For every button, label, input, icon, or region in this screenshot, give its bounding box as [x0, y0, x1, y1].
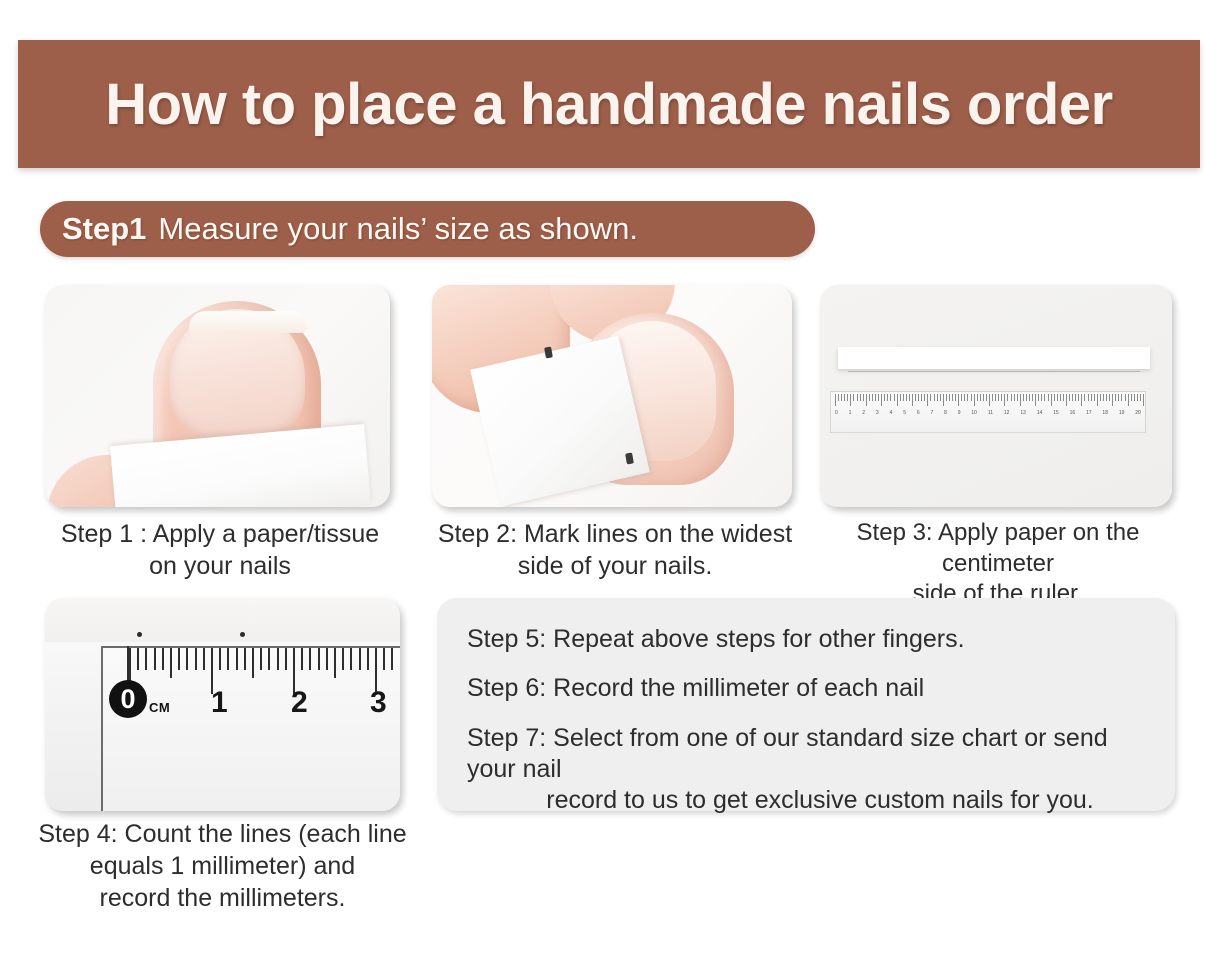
ruler-tick	[1140, 394, 1141, 401]
ruler-tick	[894, 394, 895, 401]
ruler-tick	[934, 394, 935, 401]
ruler-label-3: 3	[370, 686, 387, 720]
ruler-tick	[1048, 394, 1049, 401]
ruler-tick	[1134, 394, 1135, 401]
step1-description: Measure your nails’ size as shown.	[158, 211, 638, 247]
ruler-tick	[850, 394, 851, 406]
ruler-tick	[860, 394, 861, 401]
ruler-mm-tick	[195, 648, 197, 670]
ruler-number: 0	[835, 410, 838, 426]
caption-step-2: Step 2: Mark lines on the widest side of…	[425, 518, 805, 582]
ruler-mm-tick	[367, 648, 369, 670]
ruler-mm-tick	[285, 648, 287, 670]
paper-strip	[838, 347, 1150, 369]
ruler-number: 1	[849, 410, 852, 426]
step1-label: Step1	[62, 211, 146, 247]
step-5-line: Step 5: Repeat above steps for other fin…	[467, 624, 1145, 655]
ruler-tick	[924, 394, 925, 401]
ruler-tick	[977, 394, 978, 401]
cm-unit-label: CM	[149, 700, 170, 715]
ruler-tick	[909, 394, 910, 401]
ruler-tick	[952, 394, 953, 401]
ruler-number: 15	[1053, 410, 1059, 426]
ruler-tick	[1088, 394, 1089, 401]
ruler-mm-tick	[162, 648, 164, 670]
ruler-tick	[1029, 394, 1030, 401]
ruler-tick	[1078, 394, 1079, 401]
ruler-tick	[1106, 394, 1107, 401]
ruler-tick-marks	[831, 392, 1145, 408]
step-7-line-continuation: record to us to get exclusive custom nai…	[467, 785, 1145, 816]
ruler-tick	[1115, 394, 1116, 401]
ruler-number: 9	[958, 410, 961, 426]
ruler-number: 10	[971, 410, 977, 426]
step4-image-card: 0 CM 1 2 3	[45, 598, 400, 811]
ruler-tick	[1112, 394, 1113, 406]
ruler-tick	[971, 394, 972, 401]
ruler-tick	[1011, 394, 1012, 401]
ruler-tick	[1032, 394, 1033, 401]
ruler-label-2: 2	[291, 686, 308, 720]
ruler-number: 17	[1086, 410, 1092, 426]
ruler-mm-tick	[277, 648, 279, 670]
caption-step-1-line2: on your nails	[40, 550, 400, 582]
ruler-mm-tick	[309, 648, 311, 670]
ruler-mm-tick	[145, 648, 147, 670]
step1-banner: Step1 Measure your nails’ size as shown.	[40, 201, 815, 257]
ruler-tick	[986, 394, 987, 401]
ruler-tick	[918, 394, 919, 401]
ruler-tick	[1004, 394, 1005, 406]
ruler-tick	[841, 394, 842, 401]
ruler-number: 20	[1135, 410, 1141, 426]
caption-step-4-line2: equals 1 millimeter) and	[30, 850, 415, 882]
ruler-mm-tick	[154, 648, 156, 670]
ruler-number: 12	[1004, 410, 1010, 426]
zero-badge: 0	[109, 680, 147, 718]
ruler-mm-tick	[318, 648, 320, 670]
ruler-mm-tick	[342, 648, 344, 670]
ruler-mm-tick	[236, 648, 238, 670]
ruler-tick	[1100, 394, 1101, 401]
ruler-tick	[897, 394, 898, 406]
ruler-tick	[1121, 394, 1122, 401]
zero-marker: 0 CM	[109, 680, 170, 718]
caption-step-3: Step 3: Apply paper on the centimeter si…	[812, 518, 1184, 610]
ruler-number: 16	[1070, 410, 1076, 426]
ruler-tick	[1007, 394, 1008, 401]
ruler-tick	[949, 394, 950, 401]
pencil-mark-dot-right	[240, 632, 245, 637]
ruler-tick	[853, 394, 854, 401]
ruler-mm-tick	[383, 648, 385, 670]
step3-image-card: 01234567891011121314151617181920	[820, 285, 1172, 507]
ruler-label-1: 1	[211, 686, 228, 720]
step-7-line: Step 7: Select from one of our standard …	[467, 723, 1145, 817]
caption-step-4: Step 4: Count the lines (each line equal…	[30, 818, 415, 914]
ruler-tick	[1020, 394, 1021, 406]
ruler-tick	[961, 394, 962, 401]
ruler-mm-tick	[203, 648, 205, 670]
pencil-mark-dot-left	[137, 632, 142, 637]
ruler-tick	[921, 394, 922, 401]
ruler-tick	[974, 394, 975, 406]
ruler-tick	[955, 394, 956, 401]
ruler-tick	[1143, 394, 1144, 406]
ruler-mm-tick	[219, 648, 221, 670]
ruler-mm-tick	[137, 648, 139, 670]
ruler-tick	[958, 394, 959, 406]
ruler-tick	[869, 394, 870, 401]
ruler-mm-tick	[244, 648, 246, 670]
ruler-number: 5	[903, 410, 906, 426]
ruler-body	[101, 646, 400, 811]
ruler-tick	[844, 394, 845, 401]
ruler-tick	[890, 394, 891, 401]
ruler-tick	[1075, 394, 1076, 401]
ruler-tick	[1060, 394, 1061, 401]
ruler-number: 2	[862, 410, 865, 426]
ruler-tick	[1038, 394, 1039, 401]
paper-above-ruler	[45, 598, 400, 642]
ruler-tick	[900, 394, 901, 401]
ruler-tick	[872, 394, 873, 401]
page-title: How to place a handmade nails order	[105, 71, 1112, 138]
ruler-tick	[940, 394, 941, 401]
ruler-tick	[1091, 394, 1092, 401]
caption-step-4-line1: Step 4: Count the lines (each line	[30, 818, 415, 850]
header-banner: How to place a handmade nails order	[18, 40, 1200, 168]
caption-step-1-line1: Step 1 : Apply a paper/tissue	[40, 518, 400, 550]
ruler-tick	[838, 394, 839, 401]
instruction-page: How to place a handmade nails order Step…	[0, 0, 1232, 976]
ruler-number: 13	[1020, 410, 1026, 426]
caption-step-1: Step 1 : Apply a paper/tissue on your na…	[40, 518, 400, 582]
ruler-number: 6	[917, 410, 920, 426]
ruler-illustration: 01234567891011121314151617181920	[830, 391, 1146, 433]
ruler-tick	[915, 394, 916, 401]
ruler-tick	[1051, 394, 1052, 406]
ruler-tick	[1069, 394, 1070, 401]
caption-step-3-line1: Step 3: Apply paper on the centimeter	[812, 518, 1184, 579]
ruler-tick	[946, 394, 947, 401]
step-6-line: Step 6: Record the millimeter of each na…	[467, 673, 1145, 704]
ruler-tick	[912, 394, 913, 406]
ruler-tick	[967, 394, 968, 401]
ruler-tick	[1097, 394, 1098, 406]
nail-tip	[189, 311, 307, 333]
ruler-tick	[927, 394, 928, 406]
ruler-number: 4	[890, 410, 893, 426]
ruler-tick	[1128, 394, 1129, 406]
ruler-mm-tick	[227, 648, 229, 670]
ruler-tick	[1014, 394, 1015, 401]
ruler-tick	[903, 394, 904, 401]
ruler-tick	[1072, 394, 1073, 401]
ruler-tick	[1109, 394, 1110, 401]
ruler-tick	[937, 394, 938, 401]
ruler-tick	[1023, 394, 1024, 401]
ruler-tick	[847, 394, 848, 401]
steps-5-7-panel: Step 5: Repeat above steps for other fin…	[437, 598, 1175, 811]
ruler-tick	[866, 394, 867, 406]
ruler-tick	[881, 394, 882, 406]
ruler-tick	[878, 394, 879, 401]
caption-step-2-line2: side of your nails.	[425, 550, 805, 582]
ruler-number-labels: 01234567891011121314151617181920	[831, 410, 1145, 426]
ruler-mm-tick	[301, 648, 303, 670]
nail-plate	[169, 309, 305, 439]
ruler-tick	[857, 394, 858, 401]
ruler-tick	[995, 394, 996, 401]
ruler-tick	[1063, 394, 1064, 401]
ruler-number: 7	[930, 410, 933, 426]
ruler-tick	[1054, 394, 1055, 401]
ruler-number: 8	[944, 410, 947, 426]
ruler-number: 19	[1119, 410, 1125, 426]
ruler-tick	[1041, 394, 1042, 401]
ruler-tick	[1131, 394, 1132, 401]
ruler-tick	[1066, 394, 1067, 406]
ruler-tick	[1103, 394, 1104, 401]
ruler-tick	[1026, 394, 1027, 401]
paper-edge-line	[848, 371, 1140, 372]
ruler-tick	[835, 394, 836, 406]
ruler-mm-tick	[252, 648, 254, 678]
ruler-mm-tick	[350, 648, 352, 670]
ruler-tick	[1017, 394, 1018, 401]
ruler-tick	[998, 394, 999, 401]
ruler-tick	[992, 394, 993, 401]
ruler-tick	[906, 394, 907, 401]
ruler-tick	[989, 394, 990, 406]
ruler-tick	[1084, 394, 1085, 401]
ruler-tick	[1125, 394, 1126, 401]
ruler-tick	[887, 394, 888, 401]
ruler-mm-tick	[391, 648, 393, 670]
step2-image-card	[432, 285, 792, 507]
caption-step-2-line1: Step 2: Mark lines on the widest	[425, 518, 805, 550]
ruler-number: 14	[1037, 410, 1043, 426]
ruler-mm-tick	[268, 648, 270, 670]
ruler-tick	[1001, 394, 1002, 401]
ruler-mm-tick	[186, 648, 188, 670]
ruler-mm-tick	[359, 648, 361, 670]
ruler-tick	[930, 394, 931, 401]
ruler-tick	[1094, 394, 1095, 401]
ruler-tick	[983, 394, 984, 401]
ruler-tick	[863, 394, 864, 401]
ruler-mm-tick	[170, 648, 172, 678]
ruler-mm-tick	[178, 648, 180, 670]
ruler-mm-tick	[326, 648, 328, 670]
ruler-mm-tick	[334, 648, 336, 678]
ruler-tick	[1057, 394, 1058, 401]
ruler-tick	[1081, 394, 1082, 406]
ruler-number: 3	[876, 410, 879, 426]
ruler-number: 18	[1102, 410, 1108, 426]
ruler-mm-tick	[260, 648, 262, 670]
ruler-tick	[1137, 394, 1138, 401]
ruler-tick	[1044, 394, 1045, 401]
step1-image-card	[45, 285, 390, 507]
ruler-tick	[1035, 394, 1036, 406]
caption-step-4-line3: record the millimeters.	[30, 882, 415, 914]
ruler-tick	[1118, 394, 1119, 401]
ruler-tick	[875, 394, 876, 401]
step-7-line-main: Step 7: Select from one of our standard …	[467, 724, 1108, 783]
ruler-number: 11	[988, 410, 993, 426]
ruler-tick	[964, 394, 965, 401]
ruler-tick	[884, 394, 885, 401]
ruler-tick	[980, 394, 981, 401]
ruler-tick	[943, 394, 944, 406]
